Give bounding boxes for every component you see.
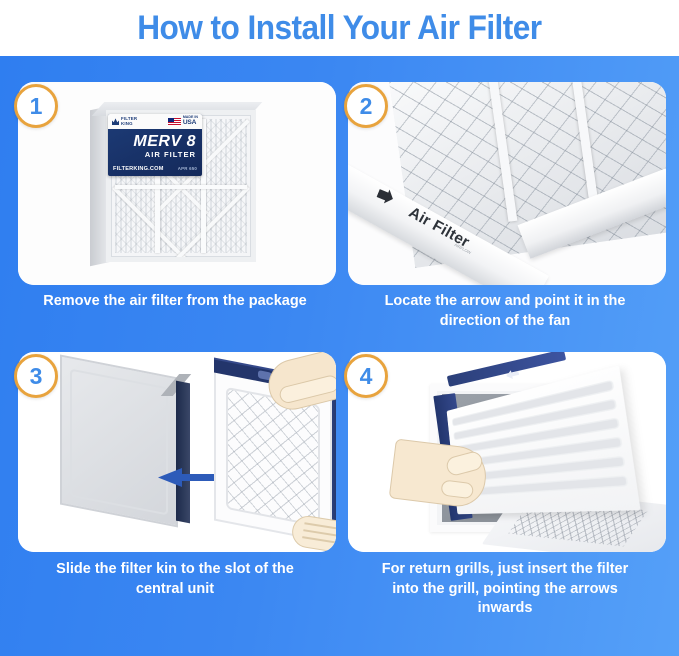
step-panel-4: 4 For return grills, just insert the fil… (344, 352, 666, 599)
insertion-arrow-icon (158, 468, 220, 486)
fingers (440, 479, 474, 499)
step-caption-4: For return grills, just insert the filte… (344, 560, 666, 619)
poster-header: How to Install Your Air Filter (0, 0, 679, 56)
website-text: FILTERKING.COM (113, 166, 164, 172)
filter-king-logo: FILTER KING (112, 117, 137, 126)
step-number-badge-2: 2 (344, 84, 388, 128)
made-in-usa-badge: MADE IN USA (168, 116, 198, 126)
central-unit-panel-outline (70, 368, 168, 515)
made-in-usa-text: MADE IN USA (183, 116, 198, 126)
air-filter-graphic: FILTER KING MADE IN USA (90, 98, 262, 270)
step-caption-3: Slide the filter kin to the slot of the … (14, 560, 336, 599)
hand-lower (290, 514, 336, 552)
return-grill-illustration (348, 352, 666, 552)
usa-flag-icon (168, 118, 181, 126)
step-number-badge-4: 4 (344, 354, 388, 398)
brand-name: FILTER KING (121, 117, 137, 126)
merv-rating-text: MERV 8 (108, 134, 196, 150)
central-unit-slot (176, 381, 190, 524)
filter-right-frame (332, 383, 336, 538)
step-caption-1: Remove the air filter from the package (14, 292, 336, 312)
fingers (278, 374, 336, 405)
apr-rating-text: APR 650 (178, 166, 197, 171)
label-top-strip: FILTER KING MADE IN USA (108, 114, 202, 129)
page-title: How to Install Your Air Filter (137, 11, 541, 45)
crown-icon (112, 118, 119, 125)
step-2-image-card: Air Filter AIRFLOW (348, 82, 666, 285)
step-caption-2: Locate the arrow and point it in the dir… (344, 292, 666, 331)
filter-product-label: FILTER KING MADE IN USA (108, 114, 202, 176)
step-panel-3: 3 Slide the filter kin to the slot of th… (14, 352, 336, 599)
arrow-head (158, 468, 182, 487)
air-filter-top-frame (447, 352, 566, 387)
step-panel-1: FILTER KING MADE IN USA (14, 82, 336, 329)
filter-product-photo: FILTER KING MADE IN USA (18, 82, 336, 285)
slide-filter-illustration (18, 352, 336, 552)
label-bottom-strip: FILTERKING.COM APR 650 (113, 166, 197, 172)
thumb (445, 450, 485, 478)
filter-mesh (226, 387, 320, 527)
step-number-badge-3: 3 (14, 354, 58, 398)
step-4-image-card (348, 352, 666, 552)
infographic-poster: How to Install Your Air Filter (0, 0, 679, 656)
step-number-badge-1: 1 (14, 84, 58, 128)
step-3-image-card (18, 352, 336, 552)
steps-grid: FILTER KING MADE IN USA (0, 56, 679, 656)
filter-wire-horizontal (115, 185, 247, 189)
step-1-image-card: FILTER KING MADE IN USA (18, 82, 336, 285)
step-panel-2: Air Filter AIRFLOW 2 Locate the arrow an… (344, 82, 666, 329)
filter-corner-photo: Air Filter AIRFLOW (348, 82, 666, 285)
label-subtitle: AIR FILTER (108, 151, 196, 159)
